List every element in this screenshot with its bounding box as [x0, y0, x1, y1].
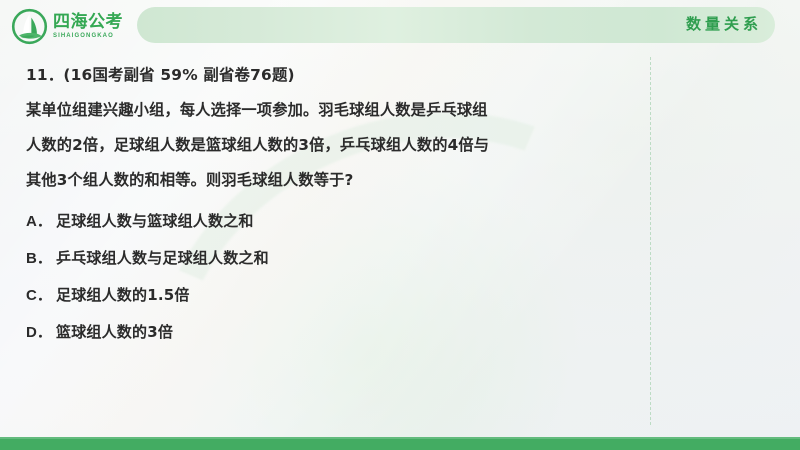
option-a-key: A．: [26, 204, 56, 240]
brand-logo-text: 四海公考 SIHAIGONGKAO: [53, 13, 123, 39]
option-c-key: C．: [26, 278, 56, 314]
option-d-key: D．: [26, 315, 56, 351]
answer-options-list: A． 足球组人数与篮球组人数之和 B． 乒乓球组人数与足球组人数之和 C． 足球…: [26, 203, 650, 351]
option-b-label: 乒乓球组人数与足球组人数之和: [56, 240, 269, 276]
option-a-label: 足球组人数与篮球组人数之和: [56, 203, 254, 239]
footer-accent-bar: [0, 437, 800, 450]
question-body-line-3: 其他3个组人数的和相等。则羽毛球组人数等于?: [26, 163, 650, 198]
option-a[interactable]: A． 足球组人数与篮球组人数之和: [26, 203, 650, 240]
brand-name-en: SIHAIGONGKAO: [53, 33, 123, 39]
option-d[interactable]: D． 篮球组人数的3倍: [26, 314, 650, 351]
sailboat-circle-logo-icon: [11, 8, 48, 45]
brand-name-cn: 四海公考: [53, 14, 123, 31]
question-number-line: 11．(16国考副省 59% 副省卷76题): [26, 58, 650, 93]
vertical-dashed-divider: [650, 57, 651, 425]
header-pill-banner: [137, 7, 775, 43]
question-body-line-2: 人数的2倍，足球组人数是篮球组人数的3倍，乒乓球组人数的4倍与: [26, 128, 650, 163]
question-content: 11．(16国考副省 59% 副省卷76题) 某单位组建兴趣小组，每人选择一项参…: [0, 50, 650, 351]
option-d-label: 篮球组人数的3倍: [56, 314, 173, 350]
question-body-line-1: 某单位组建兴趣小组，每人选择一项参加。羽毛球组人数是乒乓球组: [26, 93, 650, 128]
brand-logo[interactable]: 四海公考 SIHAIGONGKAO: [11, 6, 137, 46]
option-b[interactable]: B． 乒乓球组人数与足球组人数之和: [26, 240, 650, 277]
option-c-label: 足球组人数的1.5倍: [56, 277, 190, 313]
category-title: 数量关系: [686, 13, 762, 34]
page-header: 四海公考 SIHAIGONGKAO 数量关系: [0, 0, 800, 50]
option-c[interactable]: C． 足球组人数的1.5倍: [26, 277, 650, 314]
option-b-key: B．: [26, 241, 56, 277]
